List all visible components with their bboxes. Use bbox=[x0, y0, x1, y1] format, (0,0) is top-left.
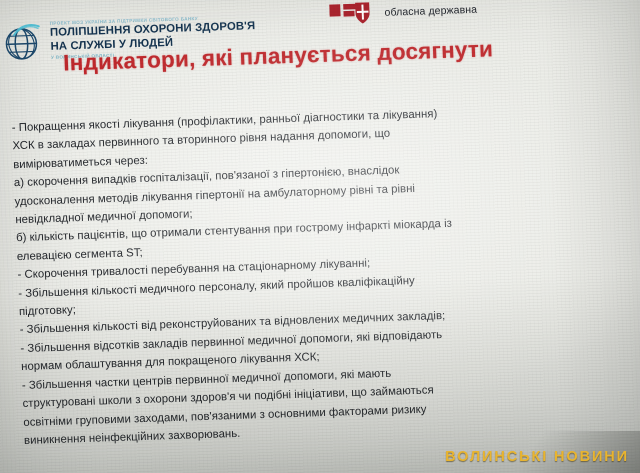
projection-screen: ПРОЕКТ МОЗ УКРАЇНИ ЗА ПІДТРИМКИ СВІТОВОГ… bbox=[0, 0, 640, 473]
oda-emblem-icon bbox=[329, 0, 378, 28]
slide-content: ПРОЕКТ МОЗ УКРАЇНИ ЗА ПІДТРИМКИ СВІТОВОГ… bbox=[0, 0, 640, 473]
slide-body: - Покращення якості лікування (профілакт… bbox=[11, 100, 638, 451]
oda-label: обласна державна bbox=[384, 4, 477, 19]
globe-icon bbox=[0, 18, 45, 65]
news-watermark: ВОЛИНСЬКІ НОВИНИ bbox=[445, 449, 629, 465]
projected-slide-photo: ПРОЕКТ МОЗ УКРАЇНИ ЗА ПІДТРИМКИ СВІТОВОГ… bbox=[0, 0, 640, 473]
oda-logo: обласна державна bbox=[329, 0, 478, 28]
